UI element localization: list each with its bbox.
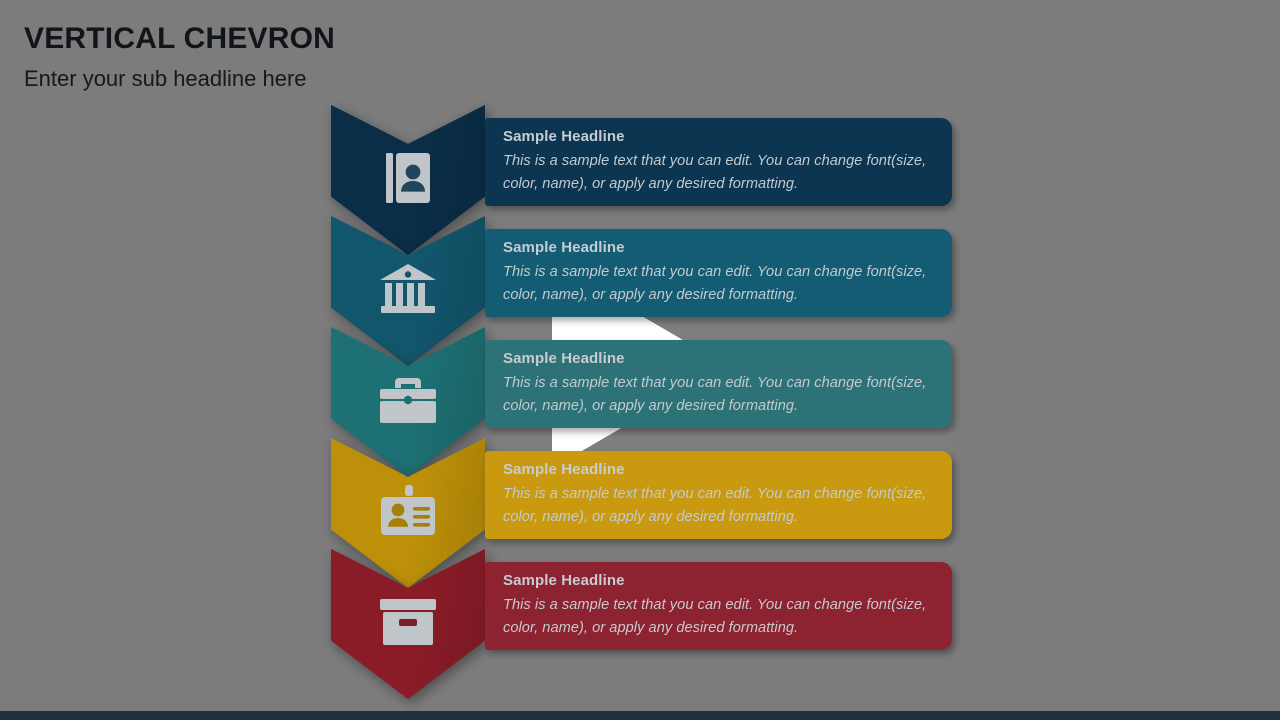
panel-body-text: This is a sample text that you can edit.… bbox=[503, 372, 935, 418]
panel-headline: Sample Headline bbox=[503, 128, 625, 145]
page-title: VERTICAL CHEVRON bbox=[24, 21, 335, 57]
panel-body-text: This is a sample text that you can edit.… bbox=[503, 594, 935, 640]
text-panel[interactable]: Sample HeadlineThis is a sample text tha… bbox=[485, 340, 952, 428]
text-panel[interactable]: Sample HeadlineThis is a sample text tha… bbox=[485, 451, 952, 539]
player-bottom-bar bbox=[0, 711, 1280, 720]
text-panel[interactable]: Sample HeadlineThis is a sample text tha… bbox=[485, 562, 952, 650]
panel-headline: Sample Headline bbox=[503, 239, 625, 256]
slide-canvas: VERTICAL CHEVRON Enter your sub headline… bbox=[0, 0, 1280, 711]
panel-headline: Sample Headline bbox=[503, 350, 625, 367]
chevron-body bbox=[331, 549, 485, 699]
text-panel[interactable]: Sample HeadlineThis is a sample text tha… bbox=[485, 229, 952, 317]
panel-body-text: This is a sample text that you can edit.… bbox=[503, 483, 935, 529]
chevron-row: Sample HeadlineThis is a sample text tha… bbox=[0, 549, 1280, 699]
panel-body-text: This is a sample text that you can edit.… bbox=[503, 261, 935, 307]
panel-headline: Sample Headline bbox=[503, 572, 625, 589]
chevron-shape[interactable] bbox=[331, 549, 485, 699]
panel-body-text: This is a sample text that you can edit.… bbox=[503, 150, 935, 196]
text-panel[interactable]: Sample HeadlineThis is a sample text tha… bbox=[485, 118, 952, 206]
panel-headline: Sample Headline bbox=[503, 461, 625, 478]
page-subtitle: Enter your sub headline here bbox=[24, 65, 307, 93]
